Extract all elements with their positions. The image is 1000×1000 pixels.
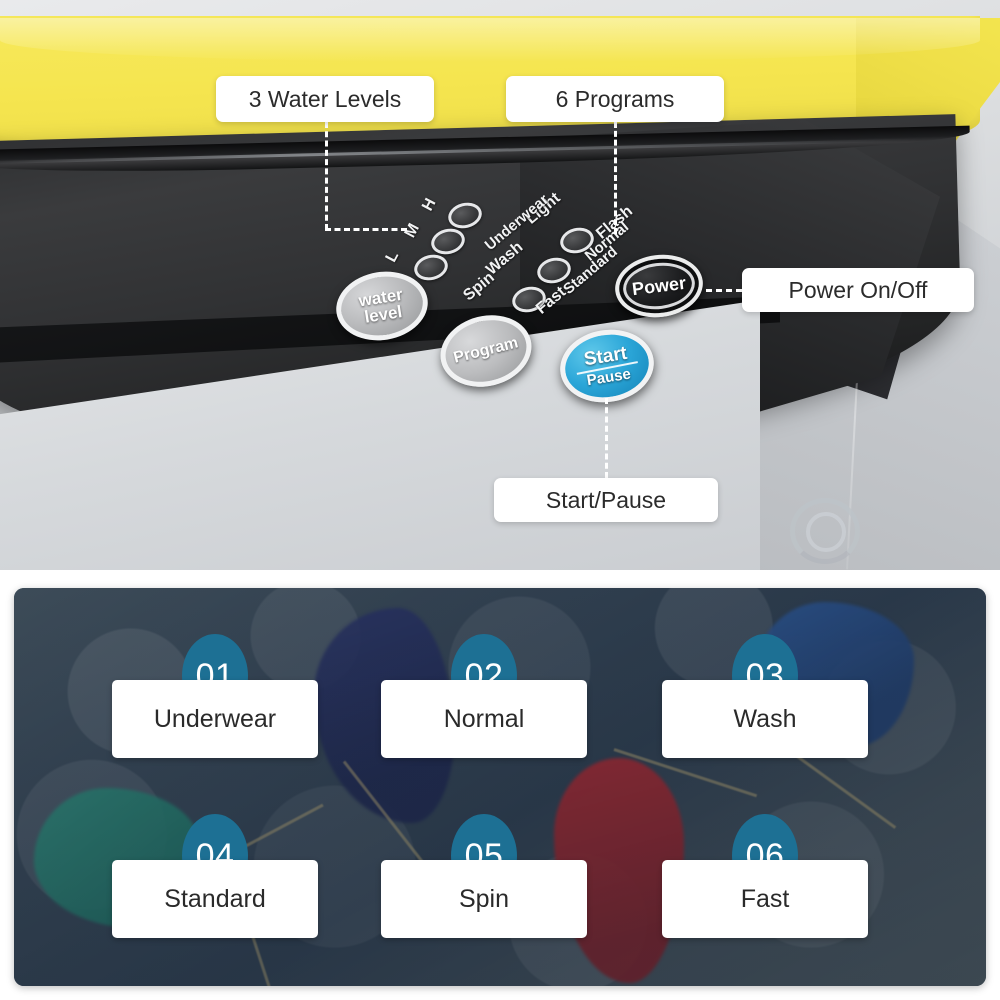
program-item-03[interactable]: 03 Wash [662, 680, 868, 758]
program-card-06[interactable]: Fast [662, 860, 868, 938]
infographic-page: H M L Light Flash Underwear Normal Wash … [0, 0, 1000, 1000]
program-item-05[interactable]: 05 Spin [381, 860, 587, 938]
program-name-03: Wash [734, 705, 797, 734]
program-card-05[interactable]: Spin [381, 860, 587, 938]
callout-start-pause[interactable]: Start/Pause [494, 478, 718, 522]
leader-line-water-levels-horizontal [325, 228, 407, 231]
program-card-02[interactable]: Normal [381, 680, 587, 758]
callout-power-label: Power On/Off [789, 277, 928, 304]
program-name-06: Fast [741, 885, 790, 914]
program-card-04[interactable]: Standard [112, 860, 318, 938]
program-name-01: Underwear [154, 705, 276, 734]
callout-water-levels-label: 3 Water Levels [249, 86, 402, 113]
programs-panel: 01 Underwear 02 Normal 03 Wash [14, 588, 986, 986]
leader-line-programs-vertical [614, 122, 617, 234]
program-item-06[interactable]: 06 Fast [662, 860, 868, 938]
program-name-02: Normal [444, 705, 525, 734]
callout-programs-label: 6 Programs [556, 86, 675, 113]
leader-line-water-levels-vertical [325, 122, 328, 230]
callout-start-pause-label: Start/Pause [546, 487, 666, 514]
program-card-03[interactable]: Wash [662, 680, 868, 758]
drain-hose-coil-inner [806, 512, 846, 552]
power-button-label: Power [631, 274, 687, 299]
lid-gloss-highlight [0, 18, 980, 62]
washer-photo-panel: H M L Light Flash Underwear Normal Wash … [0, 0, 1000, 570]
program-item-04[interactable]: 04 Standard [112, 860, 318, 938]
program-item-02[interactable]: 02 Normal [381, 680, 587, 758]
callout-water-levels[interactable]: 3 Water Levels [216, 76, 434, 122]
leader-line-start-pause-vertical [605, 398, 608, 478]
program-item-01[interactable]: 01 Underwear [112, 680, 318, 758]
callout-programs[interactable]: 6 Programs [506, 76, 724, 122]
program-card-01[interactable]: Underwear [112, 680, 318, 758]
callout-power-on-off[interactable]: Power On/Off [742, 268, 974, 312]
program-name-05: Spin [459, 885, 509, 914]
program-name-04: Standard [164, 885, 265, 914]
leader-line-power-horizontal [706, 289, 742, 292]
program-button-label: Program [452, 335, 520, 367]
